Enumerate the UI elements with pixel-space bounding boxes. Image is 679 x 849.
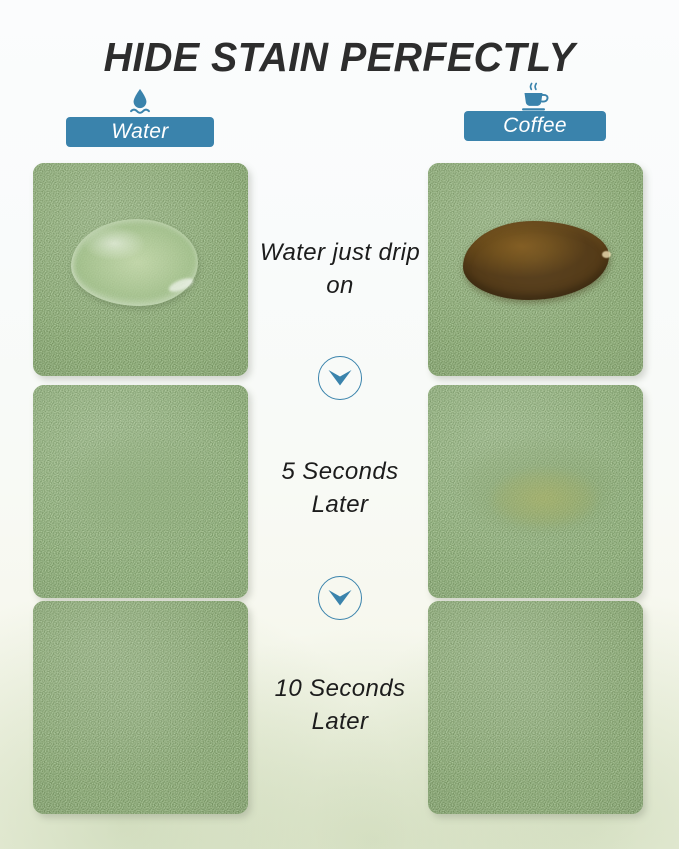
- fabric-swatch-water-stage-3: [33, 601, 248, 814]
- swatch-vignette: [428, 385, 643, 598]
- fabric-swatch-coffee-stage-2: [428, 385, 643, 598]
- swatch-vignette: [428, 163, 643, 376]
- page-title: HIDE STAIN PERFECTLY: [14, 33, 666, 81]
- infographic-page: HIDE STAIN PERFECTLY Water Coffee: [0, 0, 679, 849]
- fabric-swatch-water-stage-2: [33, 385, 248, 598]
- fabric-swatch-coffee-stage-1: [428, 163, 643, 376]
- chevron-down-icon-2: [318, 576, 362, 620]
- swatch-vignette: [428, 601, 643, 814]
- swatch-vignette: [33, 385, 248, 598]
- swatch-vignette: [33, 163, 248, 376]
- chevron-down-icon-1: [318, 356, 362, 400]
- fabric-swatch-coffee-stage-3: [428, 601, 643, 814]
- swatch-vignette: [33, 601, 248, 814]
- fabric-swatch-water-stage-1: [33, 163, 248, 376]
- column-label-water: Water: [66, 117, 214, 147]
- column-header-coffee: Coffee: [435, 82, 635, 141]
- stage-caption-1: Water just drip on: [255, 236, 425, 302]
- water-drop-icon: [40, 88, 240, 116]
- column-header-water: Water: [40, 88, 240, 147]
- coffee-cup-icon: [435, 82, 635, 110]
- column-label-coffee: Coffee: [464, 111, 606, 141]
- stage-caption-2: 5 Seconds Later: [255, 455, 425, 521]
- stage-caption-3: 10 Seconds Later: [255, 672, 425, 738]
